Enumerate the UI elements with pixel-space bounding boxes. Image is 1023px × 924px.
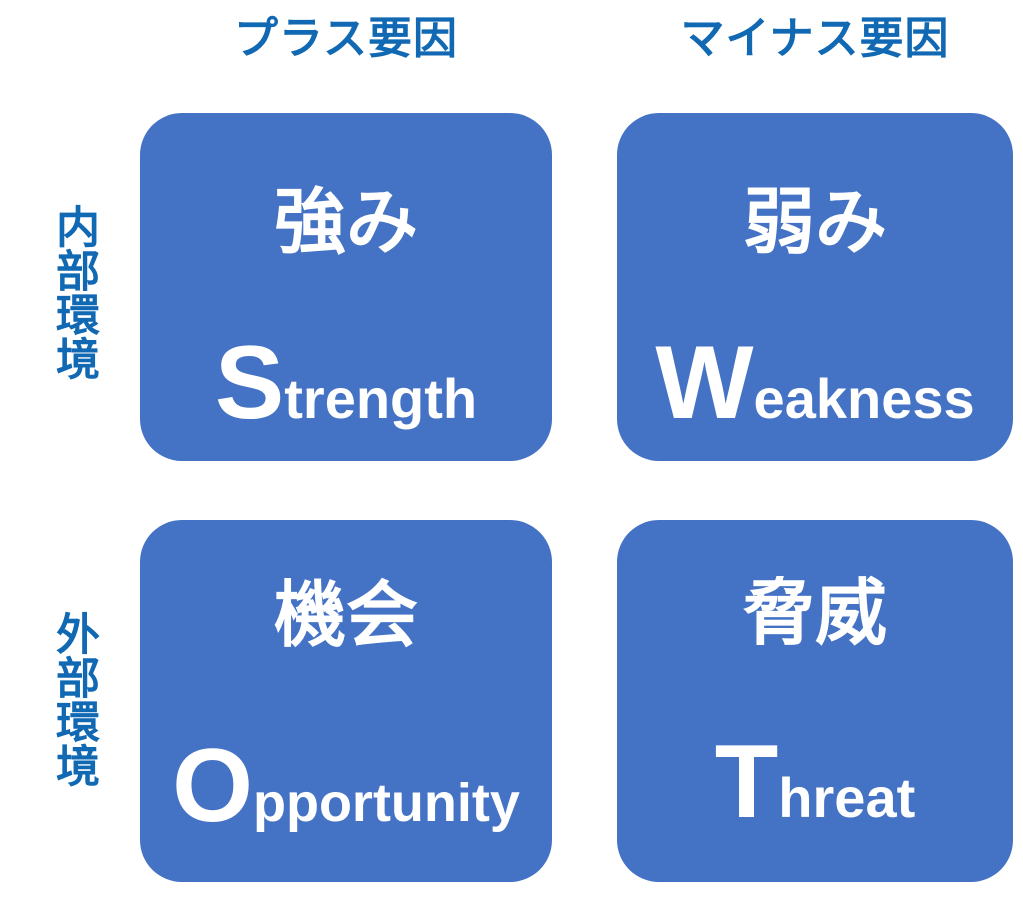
quadrant-threat-en-rest: hreat [778,766,915,829]
quadrant-threat-en-initial: T [715,724,779,840]
quadrant-weakness-en-word: Weakness [617,331,1013,435]
quadrant-opportunity-content: 機会 Opportunity [140,520,552,882]
quadrant-strength: 強み Strength [140,113,552,461]
quadrant-strength-en-rest: trength [284,367,477,430]
quadrant-strength-jp-title: 強み [140,187,552,259]
quadrant-threat-content: 脅威 Threat [617,520,1013,882]
swot-matrix-diagram: プラス要因 マイナス要因 内部環境 外部環境 強み Strength 弱み We… [0,0,1023,924]
quadrant-strength-content: 強み Strength [140,113,552,461]
quadrant-weakness-en-rest: eakness [754,367,975,430]
quadrant-threat-en-word: Threat [617,730,1013,834]
quadrant-strength-en-word: Strength [140,331,552,435]
quadrant-weakness-content: 弱み Weakness [617,113,1013,461]
quadrant-weakness-en-initial: W [655,325,753,441]
quadrant-weakness: 弱み Weakness [617,113,1013,461]
column-header-negative: マイナス要因 [617,8,1013,70]
quadrant-weakness-jp-title: 弱み [617,187,1013,259]
row-label-external: 外部環境 [22,583,96,815]
column-header-positive: プラス要因 [140,8,552,70]
row-label-internal: 内部環境 [22,176,96,408]
quadrant-strength-en-initial: S [215,325,284,441]
quadrant-opportunity-en-word: Opportunity [140,734,552,838]
quadrant-opportunity-en-rest: pportunity [253,773,520,833]
quadrant-threat: 脅威 Threat [617,520,1013,882]
quadrant-threat-jp-title: 脅威 [617,578,1013,650]
quadrant-opportunity-en-initial: O [172,728,253,844]
quadrant-opportunity-jp-title: 機会 [140,580,552,652]
quadrant-opportunity: 機会 Opportunity [140,520,552,882]
